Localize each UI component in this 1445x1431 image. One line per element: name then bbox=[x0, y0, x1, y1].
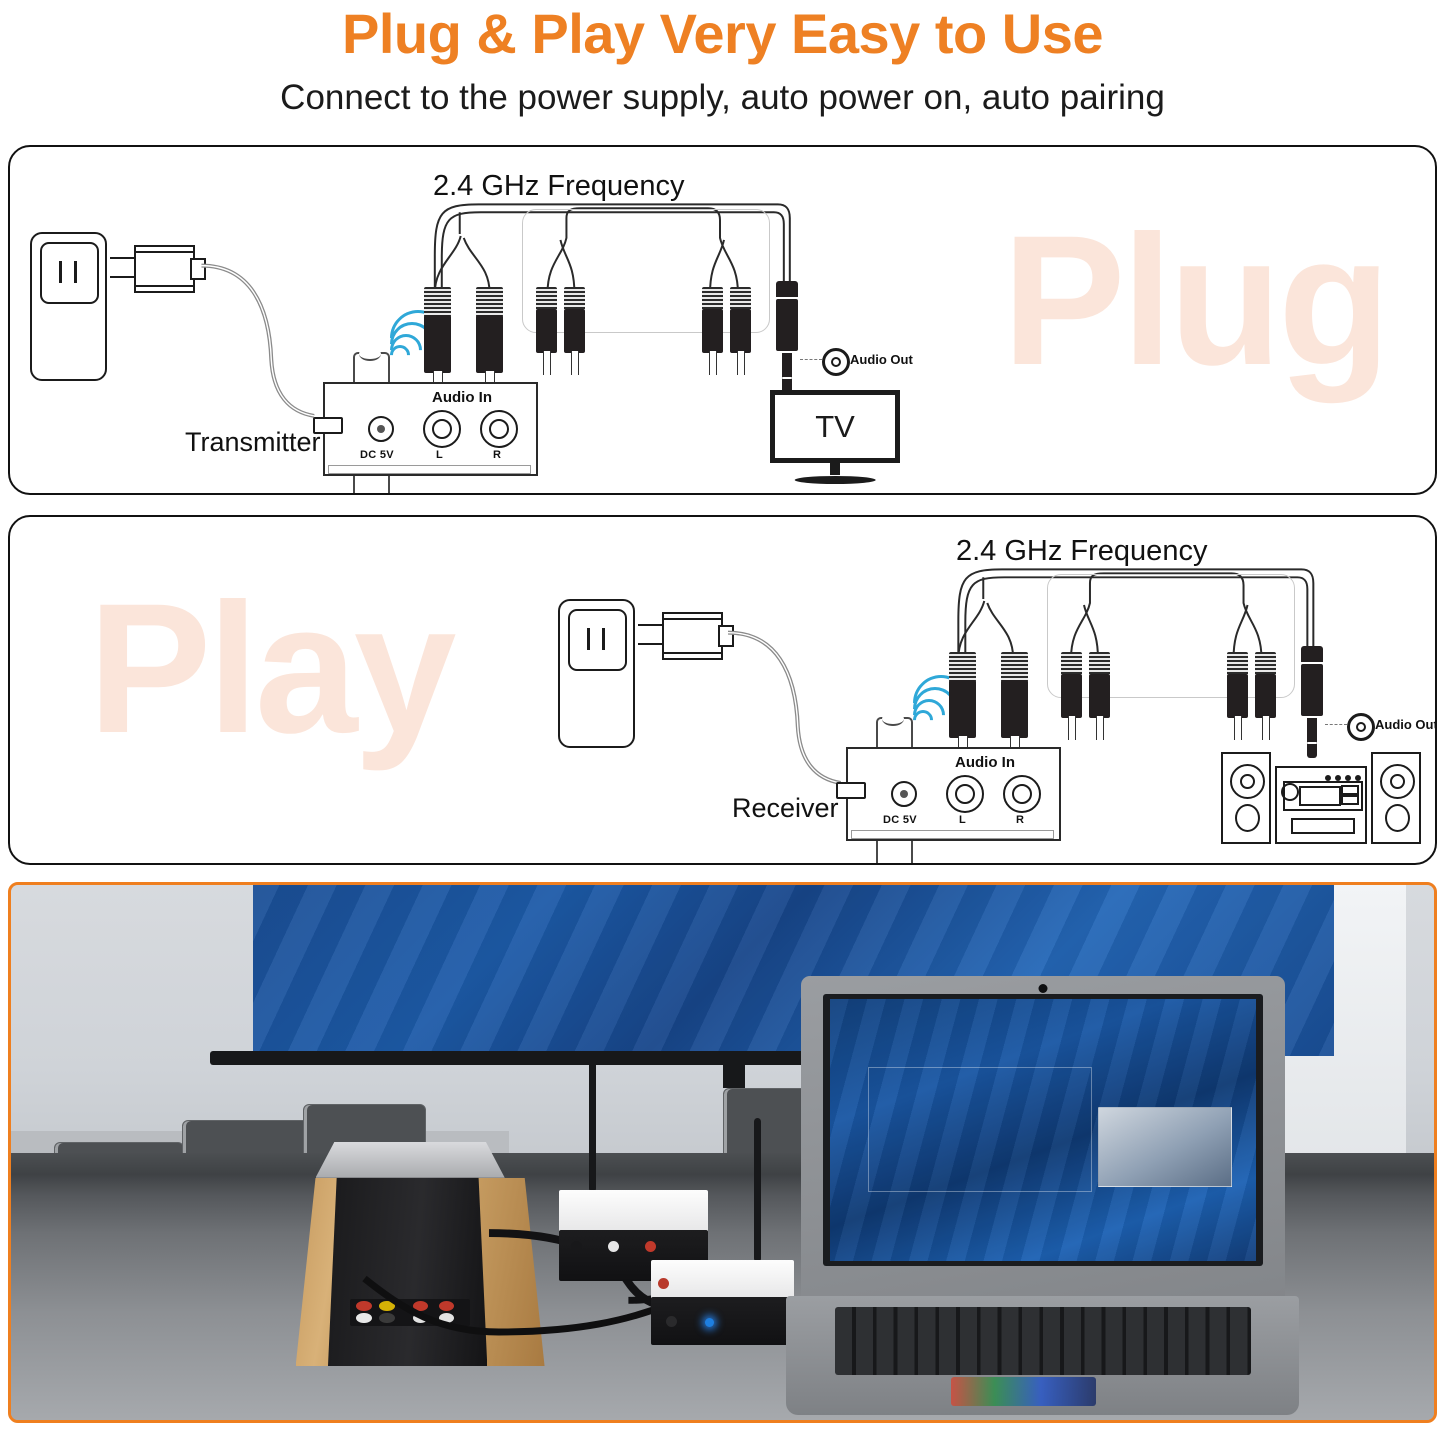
tv-icon: TV bbox=[770, 390, 900, 484]
page-title: Plug & Play Very Easy to Use bbox=[0, 0, 1445, 62]
center-unit-led-2 bbox=[1335, 775, 1341, 781]
audio-out-label-plug: Audio Out bbox=[850, 352, 913, 367]
photo-transmitter-label-face bbox=[559, 1190, 708, 1232]
outlet-pin-left-play bbox=[587, 628, 590, 650]
stereo-speaker-left bbox=[1221, 752, 1271, 844]
port-r-text-plug: R bbox=[493, 449, 501, 461]
frequency-label-plug: 2.4 GHz Frequency bbox=[433, 170, 684, 203]
center-unit-button-a[interactable] bbox=[1341, 785, 1359, 795]
tv-screen: TV bbox=[770, 390, 900, 463]
photo-laptop bbox=[801, 976, 1285, 1415]
adapter-prong-upper bbox=[110, 257, 136, 259]
tv-label: TV bbox=[815, 409, 855, 445]
stereo-speaker-right bbox=[1371, 752, 1421, 844]
speaker-woofer-right bbox=[1380, 764, 1415, 799]
rca-plug-mid-left-a bbox=[536, 287, 557, 375]
rca-plug-left-2 bbox=[949, 652, 976, 762]
photo-laptop-trackpad bbox=[951, 1377, 1096, 1406]
center-unit-led-4 bbox=[1355, 775, 1361, 781]
antenna-notch bbox=[359, 347, 381, 361]
speaker-woofer-left bbox=[1230, 764, 1265, 799]
adapter-prong-lower bbox=[110, 276, 136, 278]
photo-transmitter-jack-white bbox=[608, 1241, 619, 1252]
transmitter-label: Transmitter bbox=[185, 427, 321, 458]
audio-in-label-plug: Audio In bbox=[432, 389, 492, 406]
center-unit-display bbox=[1299, 786, 1341, 806]
photo-receiver-antenna bbox=[754, 1118, 761, 1262]
outlet-pin-right-play bbox=[602, 628, 605, 650]
adapter-prong-upper-play bbox=[638, 624, 664, 626]
dc-5v-port-plug bbox=[368, 416, 394, 442]
rca-plug-mid-right-b-2 bbox=[1255, 652, 1276, 740]
outlet-face-play bbox=[568, 609, 627, 671]
diagram-panel-play: Play 2.4 GHz Frequency bbox=[8, 515, 1437, 865]
rca-plug-mid-right-a-2 bbox=[1227, 652, 1248, 740]
stereo-system bbox=[1221, 752, 1417, 840]
adapter-prong-lower-play bbox=[638, 643, 664, 645]
rca-plug-mid-left-b-2 bbox=[1089, 652, 1110, 740]
receiver-lip bbox=[851, 830, 1054, 839]
audio-out-dash bbox=[800, 359, 822, 360]
speaker-tweeter-left bbox=[1235, 804, 1260, 832]
rca-plug-mid-left-a-2 bbox=[1061, 652, 1082, 740]
power-adapter-play bbox=[662, 612, 723, 660]
port-l-text-plug: L bbox=[436, 449, 443, 461]
receiver-label: Receiver bbox=[732, 793, 839, 824]
wall-outlet-play bbox=[558, 599, 635, 748]
photo-transmitter-jack-black bbox=[571, 1241, 582, 1252]
tv-base bbox=[795, 476, 876, 484]
plug-diagram-layer: 2.4 GHz Frequency bbox=[10, 147, 1435, 493]
adapter-barrel-play bbox=[718, 625, 734, 647]
dc-5v-text-plug: DC 5V bbox=[360, 449, 394, 461]
rca-plug-right-1 bbox=[476, 287, 503, 397]
dc-barrel-connector-play bbox=[836, 782, 866, 799]
antenna-notch-play bbox=[882, 712, 904, 726]
aux-35mm-plug bbox=[776, 281, 798, 393]
photo-laptop-screen-content-right bbox=[1098, 1107, 1232, 1188]
photo-laptop-webcam bbox=[1038, 984, 1047, 993]
frequency-label-play: 2.4 GHz Frequency bbox=[956, 535, 1207, 568]
outlet-face bbox=[40, 242, 99, 304]
audio-in-label-play: Audio In bbox=[955, 754, 1015, 771]
photo-laptop-bezel bbox=[823, 994, 1263, 1267]
rca-plug-mid-right-a bbox=[702, 287, 723, 375]
center-unit-led-1 bbox=[1325, 775, 1331, 781]
product-photo bbox=[8, 882, 1437, 1423]
rca-port-l-plug bbox=[423, 410, 461, 448]
dc-5v-text-play: DC 5V bbox=[883, 814, 917, 826]
play-diagram-layer: 2.4 GHz Frequency bbox=[10, 517, 1435, 863]
rca-port-l-play bbox=[946, 775, 984, 813]
photo-transmitter-antenna bbox=[589, 1054, 596, 1192]
port-l-text-play: L bbox=[959, 814, 966, 826]
center-unit-button-b[interactable] bbox=[1341, 795, 1359, 805]
photo-laptop-lid bbox=[801, 976, 1285, 1301]
dc-5v-port-play bbox=[891, 781, 917, 807]
wall-outlet bbox=[30, 232, 107, 381]
port-r-text-play: R bbox=[1016, 814, 1024, 826]
photo-laptop-screen-content-left bbox=[868, 1067, 1092, 1192]
photo-receiver-label-face bbox=[651, 1260, 793, 1299]
audio-out-jack-icon-play bbox=[1347, 713, 1375, 741]
tv-neck bbox=[830, 463, 840, 474]
rca-plug-mid-left-b bbox=[564, 287, 585, 375]
audio-out-jack-icon bbox=[822, 348, 850, 376]
audio-out-dash-play bbox=[1325, 724, 1347, 725]
rca-port-r-plug bbox=[480, 410, 518, 448]
adapter-barrel bbox=[190, 258, 206, 280]
center-unit-tray[interactable] bbox=[1291, 818, 1355, 834]
speaker-tweeter-right bbox=[1385, 804, 1410, 832]
header: Plug & Play Very Easy to Use Connect to … bbox=[0, 0, 1445, 115]
photo-receiver-knob bbox=[666, 1316, 677, 1327]
photo-receiver-device bbox=[651, 1260, 793, 1346]
transmitter-lip bbox=[328, 465, 531, 474]
audio-out-label-play: Audio Out bbox=[1375, 717, 1437, 732]
outlet-pin-right bbox=[74, 261, 77, 283]
diagram-panel-plug: Plug bbox=[8, 145, 1437, 495]
rca-plug-mid-right-b bbox=[730, 287, 751, 375]
stereo-center-unit bbox=[1275, 766, 1367, 844]
aux-35mm-plug-play bbox=[1301, 646, 1323, 758]
center-unit-led-3 bbox=[1345, 775, 1351, 781]
center-unit-knob bbox=[1281, 783, 1299, 801]
photo-laptop-screen bbox=[830, 999, 1256, 1261]
power-adapter bbox=[134, 245, 195, 293]
rca-port-r-play bbox=[1003, 775, 1041, 813]
outlet-pin-left bbox=[59, 261, 62, 283]
photo-laptop-keyboard bbox=[835, 1307, 1251, 1375]
rca-plug-left-1 bbox=[424, 287, 451, 397]
rca-plug-right-2 bbox=[1001, 652, 1028, 762]
page-subtitle: Connect to the power supply, auto power … bbox=[0, 62, 1445, 115]
